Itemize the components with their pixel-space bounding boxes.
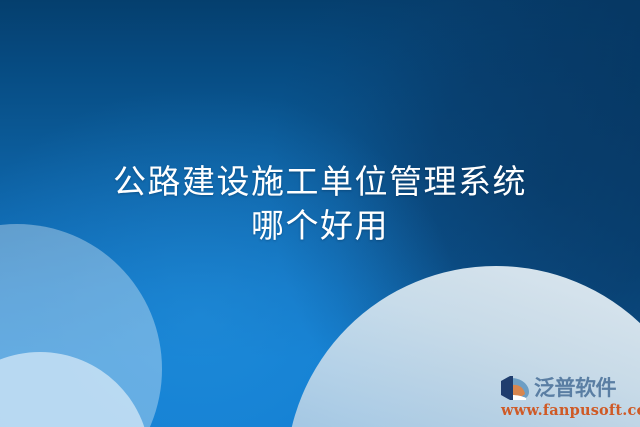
slide-canvas: 公路建设施工单位管理系统 哪个好用 泛普软件 www.fanpusoft.com: [0, 0, 640, 427]
watermark-url-text: www.fanpusoft.com: [501, 403, 640, 419]
title-line-1: 公路建设施工单位管理系统: [0, 160, 640, 204]
fanpu-logo-icon: [500, 375, 531, 401]
slide-title: 公路建设施工单位管理系统 哪个好用: [0, 160, 640, 248]
title-line-2: 哪个好用: [0, 204, 640, 248]
watermark: 泛普软件 www.fanpusoft.com: [500, 374, 634, 419]
watermark-brand-row: 泛普软件: [500, 374, 616, 402]
watermark-brand-text: 泛普软件: [534, 375, 616, 401]
